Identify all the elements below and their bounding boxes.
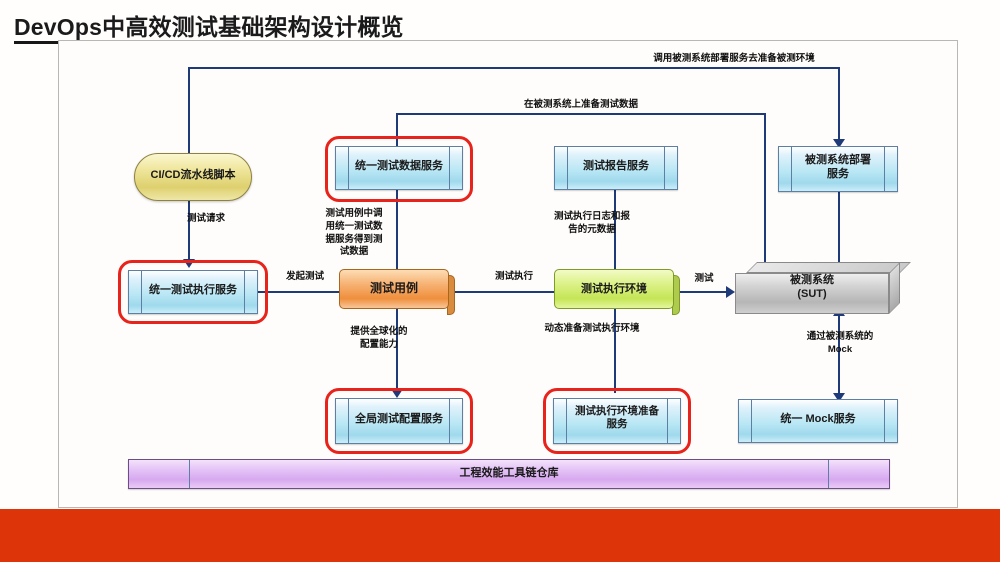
test-exec-env-front-face xyxy=(554,269,674,309)
node-unified-test-data-service[interactable] xyxy=(335,146,463,190)
node-test-report-service[interactable] xyxy=(554,146,678,190)
node-unified-test-exec-service[interactable] xyxy=(128,270,258,314)
node-global-test-config-service[interactable] xyxy=(335,398,463,444)
edge-label-dynamic-env-prepare: 动态准备测试执行环境 xyxy=(507,323,677,336)
sut-top-face xyxy=(746,262,911,273)
sut-right-face xyxy=(889,262,900,314)
edge-label-prepare-data: 在被测系统上准备测试数据 xyxy=(471,99,691,112)
node-test-case[interactable] xyxy=(339,269,455,315)
edge-test-execute-line xyxy=(453,291,569,293)
footer-band xyxy=(0,509,1000,562)
edge-deploy-env-horz xyxy=(188,67,839,69)
node-sut-deploy-service[interactable] xyxy=(778,146,898,192)
edge-prepare-data-vert-right xyxy=(764,113,766,273)
node-test-exec-env[interactable] xyxy=(554,269,680,315)
edge-deploy-env-vert-left xyxy=(188,67,190,153)
edge-label-test-request: 测试请求 xyxy=(161,213,251,226)
node-test-env-prepare-service[interactable] xyxy=(553,398,681,444)
node-unified-mock-service[interactable] xyxy=(738,399,898,443)
edge-test-arrowhead-right xyxy=(726,286,735,298)
edge-deploy-env-vert-right xyxy=(838,67,840,141)
edge-env-prepare-line xyxy=(614,305,616,393)
node-system-under-test[interactable] xyxy=(735,262,900,314)
edge-label-deploy-env: 调用被测系统部署服务去准备被测环境 xyxy=(619,53,849,66)
edge-label-exec-log-meta: 测试执行日志和报 告的元数据 xyxy=(527,211,657,237)
node-cicd-pipeline-script[interactable] xyxy=(134,153,252,201)
edge-label-test: 测试 xyxy=(671,273,737,286)
page-title: DevOps中高效测试基础架构设计概览 xyxy=(14,8,404,42)
edge-prepare-data-horz xyxy=(396,113,766,115)
edge-label-via-sut-mock: 通过被测系统的 Mock xyxy=(775,331,905,357)
edge-test-line xyxy=(678,291,730,293)
edge-deploy-to-sut-line xyxy=(838,189,840,273)
test-case-front-face xyxy=(339,269,449,309)
slide-root: DevOps中高效测试基础架构设计概览 调用被测系统部署服务去准备被测环境 在被… xyxy=(0,0,1000,562)
edge-label-test-execute: 测试执行 xyxy=(469,271,559,284)
edge-label-global-config: 提供全球化的 配置能力 xyxy=(331,326,427,352)
diagram-canvas: 调用被测系统部署服务去准备被测环境 在被测系统上准备测试数据 测试请求 发起测试… xyxy=(58,40,958,508)
sut-front-face xyxy=(735,273,889,314)
node-toolchain-repository[interactable] xyxy=(128,459,890,489)
edge-label-case-calls-data: 测试用例中调 用统一测试数 据服务得到测 试数据 xyxy=(319,208,389,259)
